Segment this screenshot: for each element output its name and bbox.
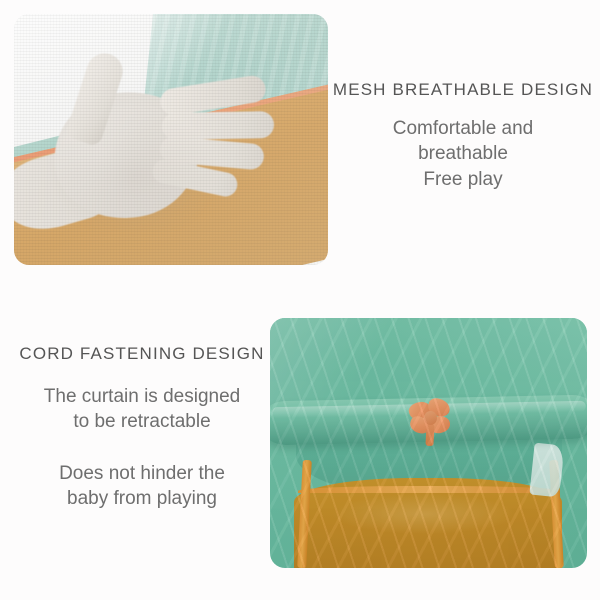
mesh-body-line-2: breathable [330, 141, 596, 166]
cord-body-line-3: Does not hinder the [6, 461, 278, 486]
mesh-paragraph: Comfortable and breathable Free play [330, 116, 596, 191]
cord-paragraph-1: The curtain is designed to be retractabl… [6, 384, 278, 434]
cord-text-block: CORD FASTENING DESIGN The curtain is des… [6, 344, 278, 511]
cord-heading: CORD FASTENING DESIGN [6, 344, 278, 364]
mesh-haze-overlay [14, 14, 328, 265]
cord-body-line-1: The curtain is designed [6, 384, 278, 409]
mesh-body-line-1: Comfortable and [330, 116, 596, 141]
mesh-heading: MESH BREATHABLE DESIGN [330, 80, 596, 100]
cord-paragraph-2: Does not hinder the baby from playing [6, 461, 278, 511]
infographic-canvas: MESH BREATHABLE DESIGN Comfortable and b… [0, 0, 600, 600]
mesh-body-line-3: Free play [330, 167, 596, 192]
tent-fabric-wrinkles [270, 318, 587, 568]
tent-cord-tie-photo [270, 318, 587, 568]
cord-body-line-4: baby from playing [6, 486, 278, 511]
hand-behind-mesh-photo [14, 14, 328, 265]
mesh-text-block: MESH BREATHABLE DESIGN Comfortable and b… [330, 80, 596, 192]
cord-body-line-2: to be retractable [6, 409, 278, 434]
